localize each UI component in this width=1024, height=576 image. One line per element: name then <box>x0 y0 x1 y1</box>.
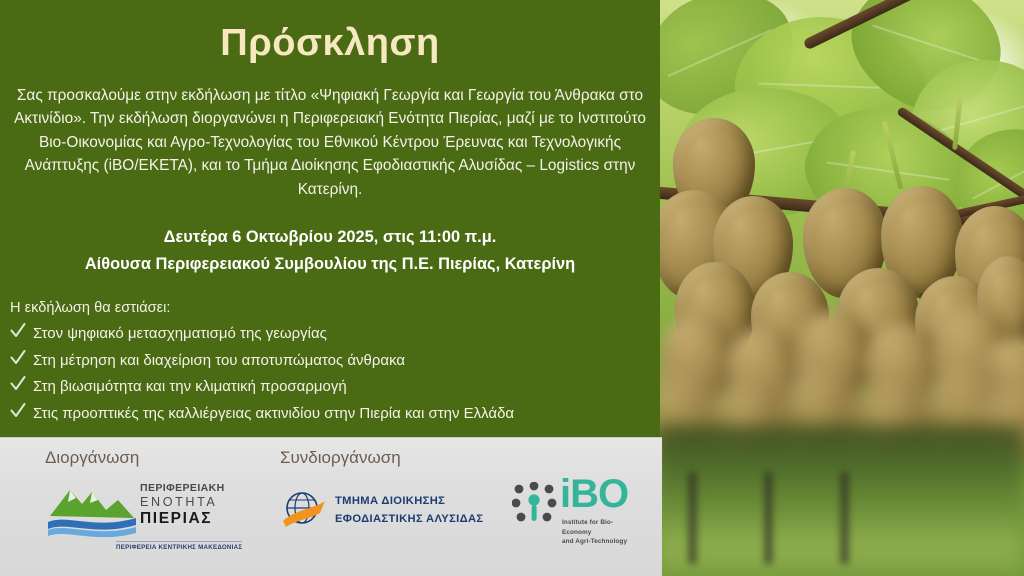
logistics-logo-text: ΤΜΗΜΑ ΔΙΟΙΚΗΣΗΣ ΕΦΟΔΙΑΣΤΙΚΗΣ ΑΛΥΣΙΔΑΣ <box>335 492 484 528</box>
mountain-and-waves-icon <box>46 480 138 546</box>
list-item: Στη βιωσιμότητα και την κλιματική προσαρ… <box>10 375 650 399</box>
ibo-tagline-line2: and Agri-Technology <box>562 537 640 547</box>
event-venue: Αίθουσα Περιφερειακού Συμβουλίου της Π.Ε… <box>14 251 646 278</box>
check-mark-icon <box>10 349 26 369</box>
pieria-logo-line1: ΠΕΡΙΦΕΡΕΙΑΚΗ <box>140 482 252 494</box>
check-mark-icon <box>10 322 26 342</box>
ibo-tagline-line1: Institute for Bio-Economy <box>562 518 640 537</box>
ibo-wordmark: iBO <box>560 474 628 514</box>
check-mark-icon <box>10 402 26 422</box>
check-mark-icon <box>10 375 26 395</box>
pieria-logo-line2: ΕΝΟΤΗΤΑ <box>140 495 252 509</box>
organizer-heading: Διοργάνωση <box>45 448 139 468</box>
logo-footer: Διοργάνωση Συνδιοργάνωση ΠΕΡΙΦΕΡΕΙΑΚΗ ΕΝ… <box>0 437 662 576</box>
pieria-regional-unit-logo: ΠΕΡΙΦΕΡΕΙΑΚΗ ΕΝΟΤΗΤΑ ΠΙΕΡΙΑΣ ΠΕΡΙΦΕΡΕΙΑ … <box>46 478 251 556</box>
pieria-logo-line3: ΠΙΕΡΙΑΣ <box>140 510 252 528</box>
kiwi-orchard-photo <box>655 0 1024 576</box>
focus-topics-list: Στον ψηφιακό μετασχηματισμό της γεωργίας… <box>10 322 650 429</box>
page-title: Πρόσκληση <box>0 22 660 65</box>
ibo-tagline: Institute for Bio-Economy and Agri-Techn… <box>562 518 640 547</box>
co-organizer-heading: Συνδιοργάνωση <box>280 448 401 468</box>
list-item: Στον ψηφιακό μετασχηματισμό της γεωργίας <box>10 322 650 346</box>
list-item-label: Στον ψηφιακό μετασχηματισμό της γεωργίας <box>33 322 327 346</box>
event-date: Δευτέρα 6 Οκτωβρίου 2025, στις 11:00 π.μ… <box>14 224 646 251</box>
pieria-logo-subtitle: ΠΕΡΙΦΕΡΕΙΑ ΚΕΝΤΡΙΚΗΣ ΜΑΚΕΔΟΝΙΑΣ <box>116 541 242 551</box>
globe-icon <box>280 487 328 535</box>
trellis-post <box>689 472 696 564</box>
list-item: Στις προοπτικές της καλλιέργειας ακτινιδ… <box>10 402 650 426</box>
orchard-ground <box>655 426 1024 576</box>
molecule-dots-icon <box>512 482 558 524</box>
trellis-post <box>841 472 848 564</box>
list-item-label: Στη βιωσιμότητα και την κλιματική προσαρ… <box>33 375 347 399</box>
logistics-logo-line1: ΤΜΗΜΑ ΔΙΟΙΚΗΣΗΣ <box>335 492 484 510</box>
pieria-logo-text: ΠΕΡΙΦΕΡΕΙΑΚΗ ΕΝΟΤΗΤΑ ΠΙΕΡΙΑΣ <box>140 482 252 528</box>
trellis-post <box>765 472 772 564</box>
event-details: Δευτέρα 6 Οκτωβρίου 2025, στις 11:00 π.μ… <box>14 224 646 277</box>
ibo-logo: iBO Institute for Bio-Economy and Agri-T… <box>512 480 640 546</box>
focus-intro-label: Η εκδήλωση θα εστιάσει: <box>10 300 170 316</box>
list-item: Στη μέτρηση και διαχείριση του αποτυπώμα… <box>10 349 650 373</box>
logistics-logo-line2: ΕΦΟΔΙΑΣΤΙΚΗΣ ΑΛΥΣΙΔΑΣ <box>335 510 484 528</box>
list-item-label: Στη μέτρηση και διαχείριση του αποτυπώμα… <box>33 349 405 373</box>
invitation-poster: Πρόσκληση Σας προσκαλούμε στην εκδήλωση … <box>0 0 1024 576</box>
intro-paragraph: Σας προσκαλούμε στην εκδήλωση με τίτλο «… <box>14 84 646 201</box>
list-item-label: Στις προοπτικές της καλλιέργειας ακτινιδ… <box>33 402 514 426</box>
logistics-department-logo: ΤΜΗΜΑ ΔΙΟΙΚΗΣΗΣ ΕΦΟΔΙΑΣΤΙΚΗΣ ΑΛΥΣΙΔΑΣ <box>280 483 510 543</box>
